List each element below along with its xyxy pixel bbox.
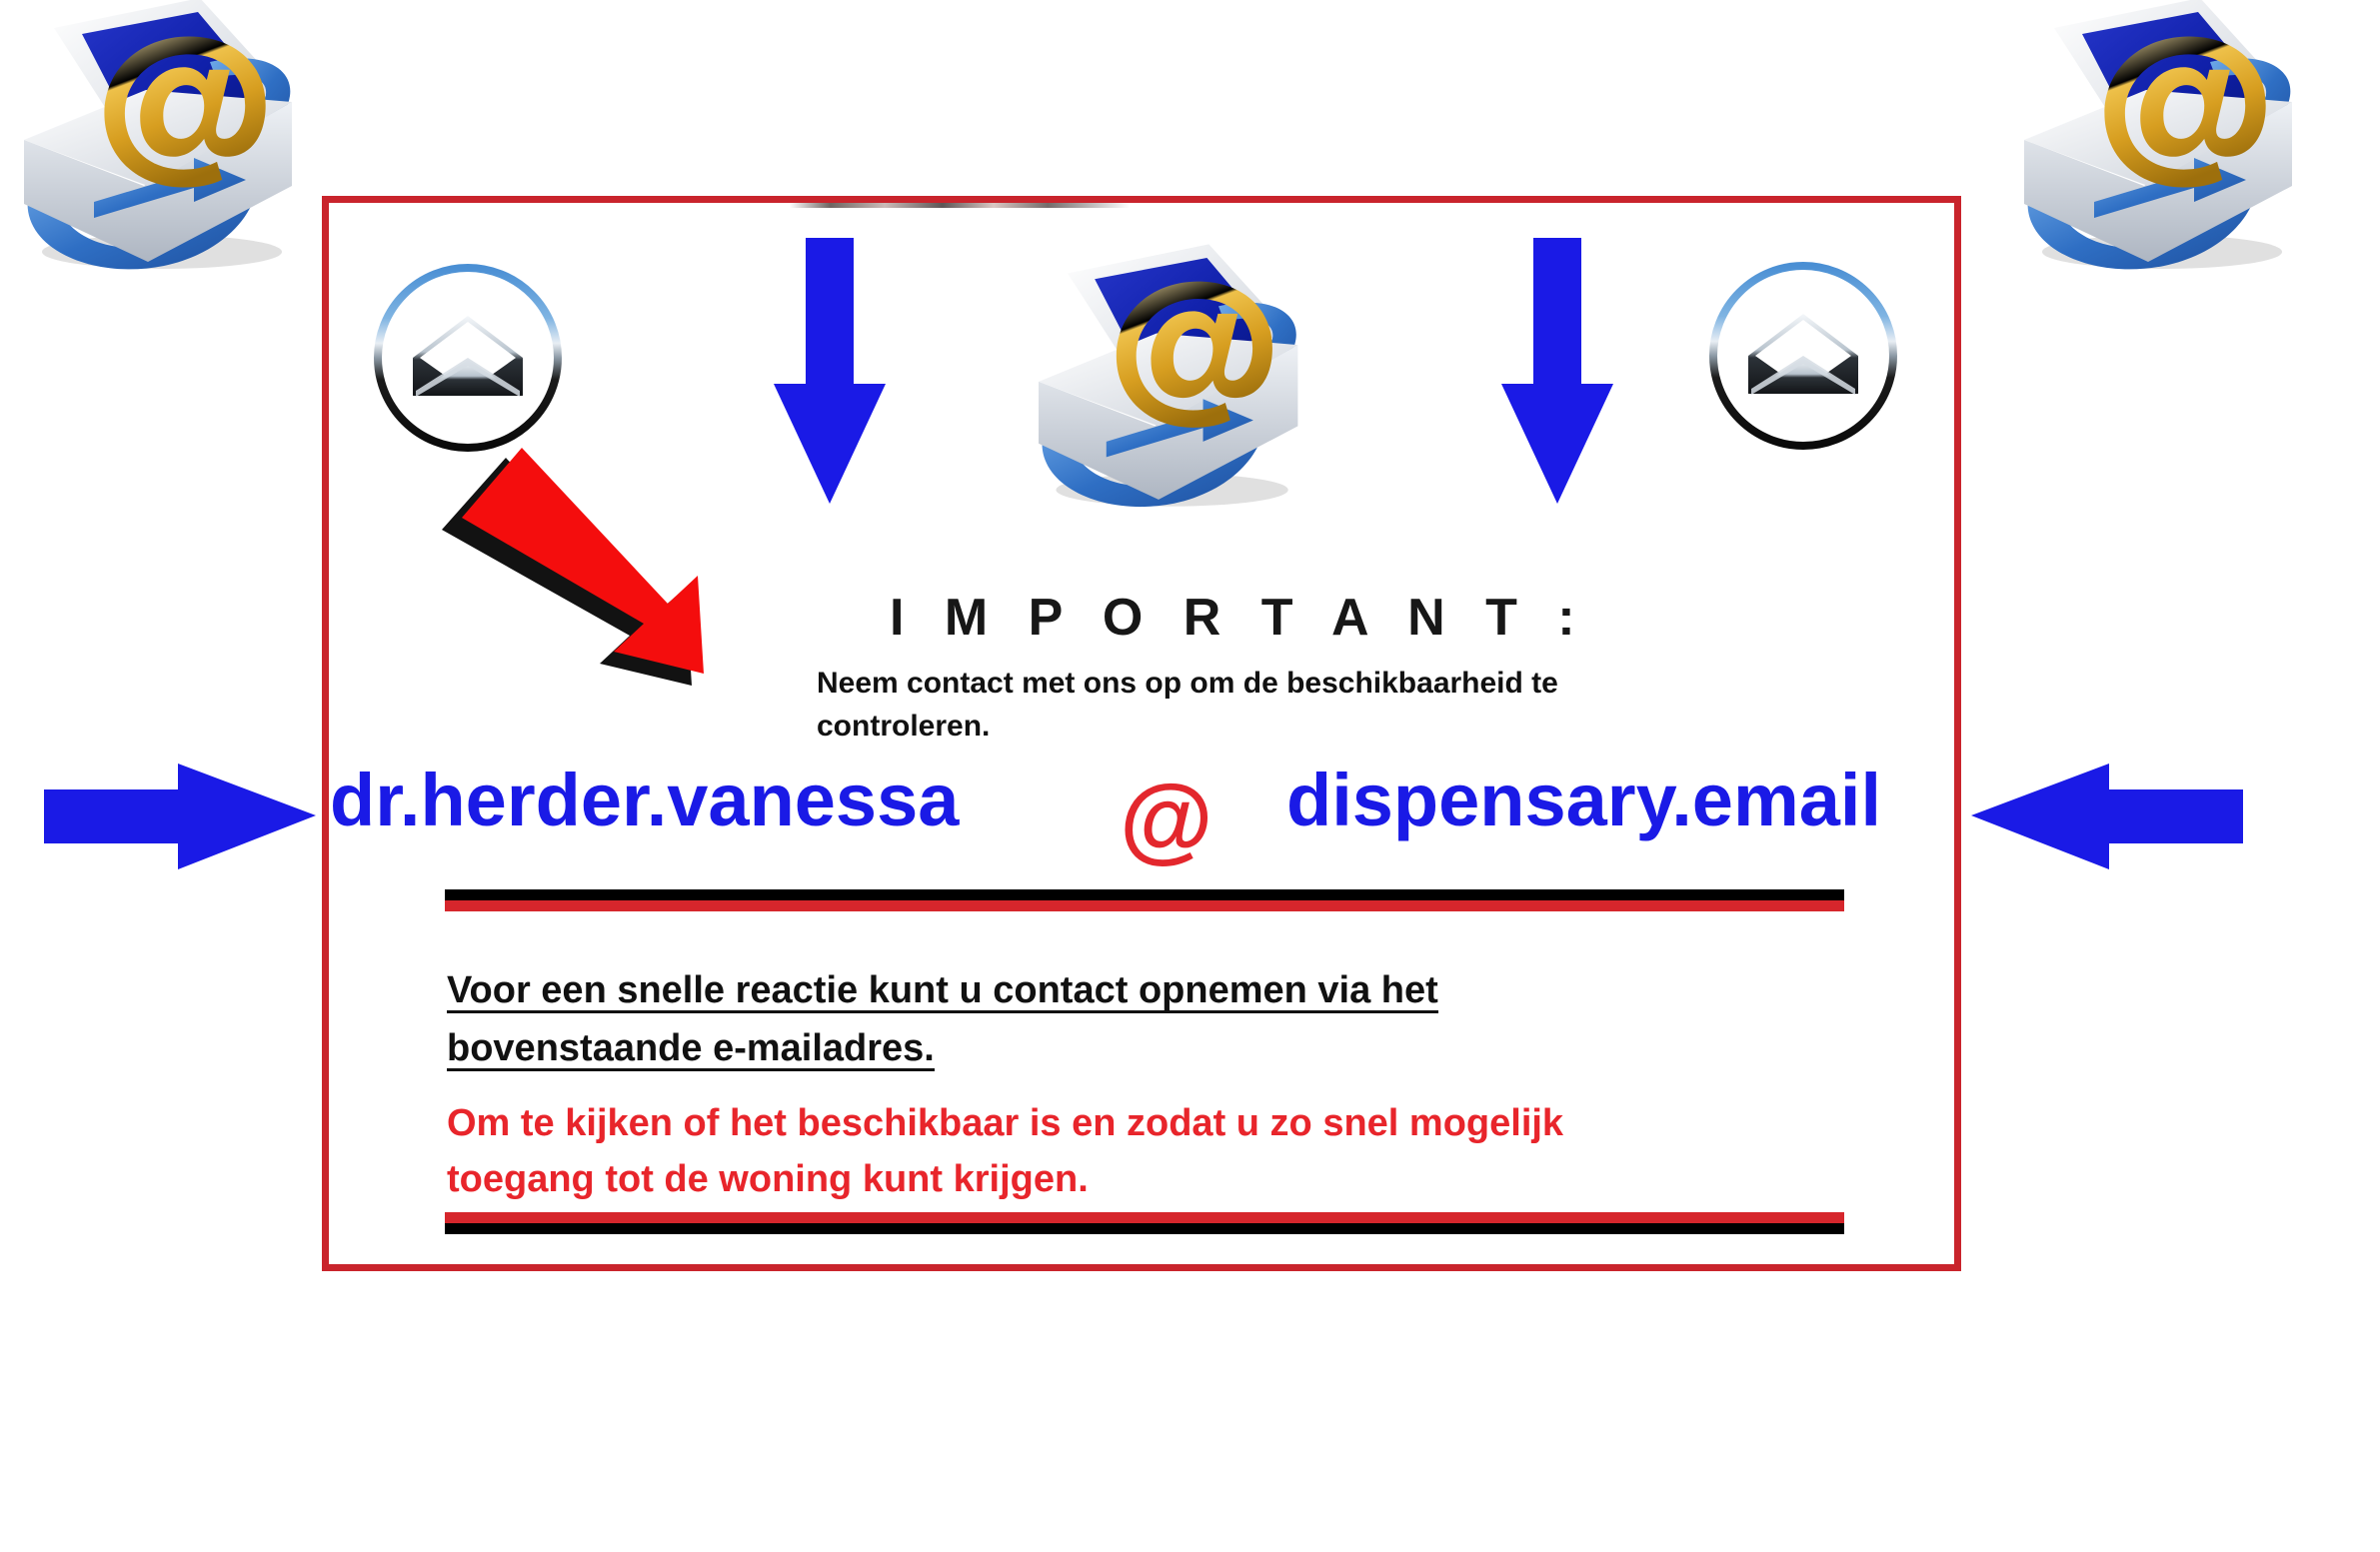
divider-bottom: [445, 1212, 1844, 1234]
email-envelope-at-3d-icon: [1994, 0, 2304, 280]
quick-reply-line-2: bovenstaande e-mailadres.: [447, 1027, 935, 1071]
divider-red-bar: [445, 900, 1844, 911]
email-envelope-at-3d-icon: [0, 0, 304, 280]
circular-open-envelope-icon: [1703, 256, 1903, 456]
availability-red-line-2: toegang tot de woning kunt krijgen.: [447, 1158, 1089, 1200]
at-symbol-icon: @: [1120, 772, 1213, 867]
blue-down-arrow-icon: [1497, 238, 1617, 506]
red-diagonal-arrow-icon: [448, 438, 738, 688]
email-envelope-at-3d-icon: [1010, 212, 1309, 542]
circular-open-envelope-icon: [368, 258, 568, 458]
divider-black-bar: [445, 889, 1844, 900]
availability-red-instruction: Om te kijken of het beschikbaar is en zo…: [447, 1095, 1666, 1207]
email-local-part[interactable]: dr.herder.vanessa: [330, 762, 959, 839]
quick-reply-instruction: Voor een snelle reactie kunt u contact o…: [447, 961, 1626, 1077]
email-domain-part[interactable]: dispensary.email: [1286, 762, 1881, 839]
divider-top: [445, 889, 1844, 911]
availability-red-line-1: Om te kijken of het beschikbaar is en zo…: [447, 1102, 1563, 1144]
blue-left-arrow-icon: [1969, 762, 2243, 871]
page-title: I M P O R T A N T :: [890, 588, 1588, 648]
blue-right-arrow-icon: [44, 762, 318, 871]
availability-note: Neem contact met ons op om de beschikbaa…: [817, 663, 1646, 748]
blue-down-arrow-icon: [770, 238, 890, 506]
top-border-artifact: [790, 203, 1130, 208]
divider-red-bar: [445, 1212, 1844, 1223]
divider-black-bar: [445, 1223, 1844, 1234]
quick-reply-line-1: Voor een snelle reactie kunt u contact o…: [447, 969, 1438, 1013]
email-address-line[interactable]: dr.herder.vanessa @ dispensary.email: [330, 762, 1954, 881]
